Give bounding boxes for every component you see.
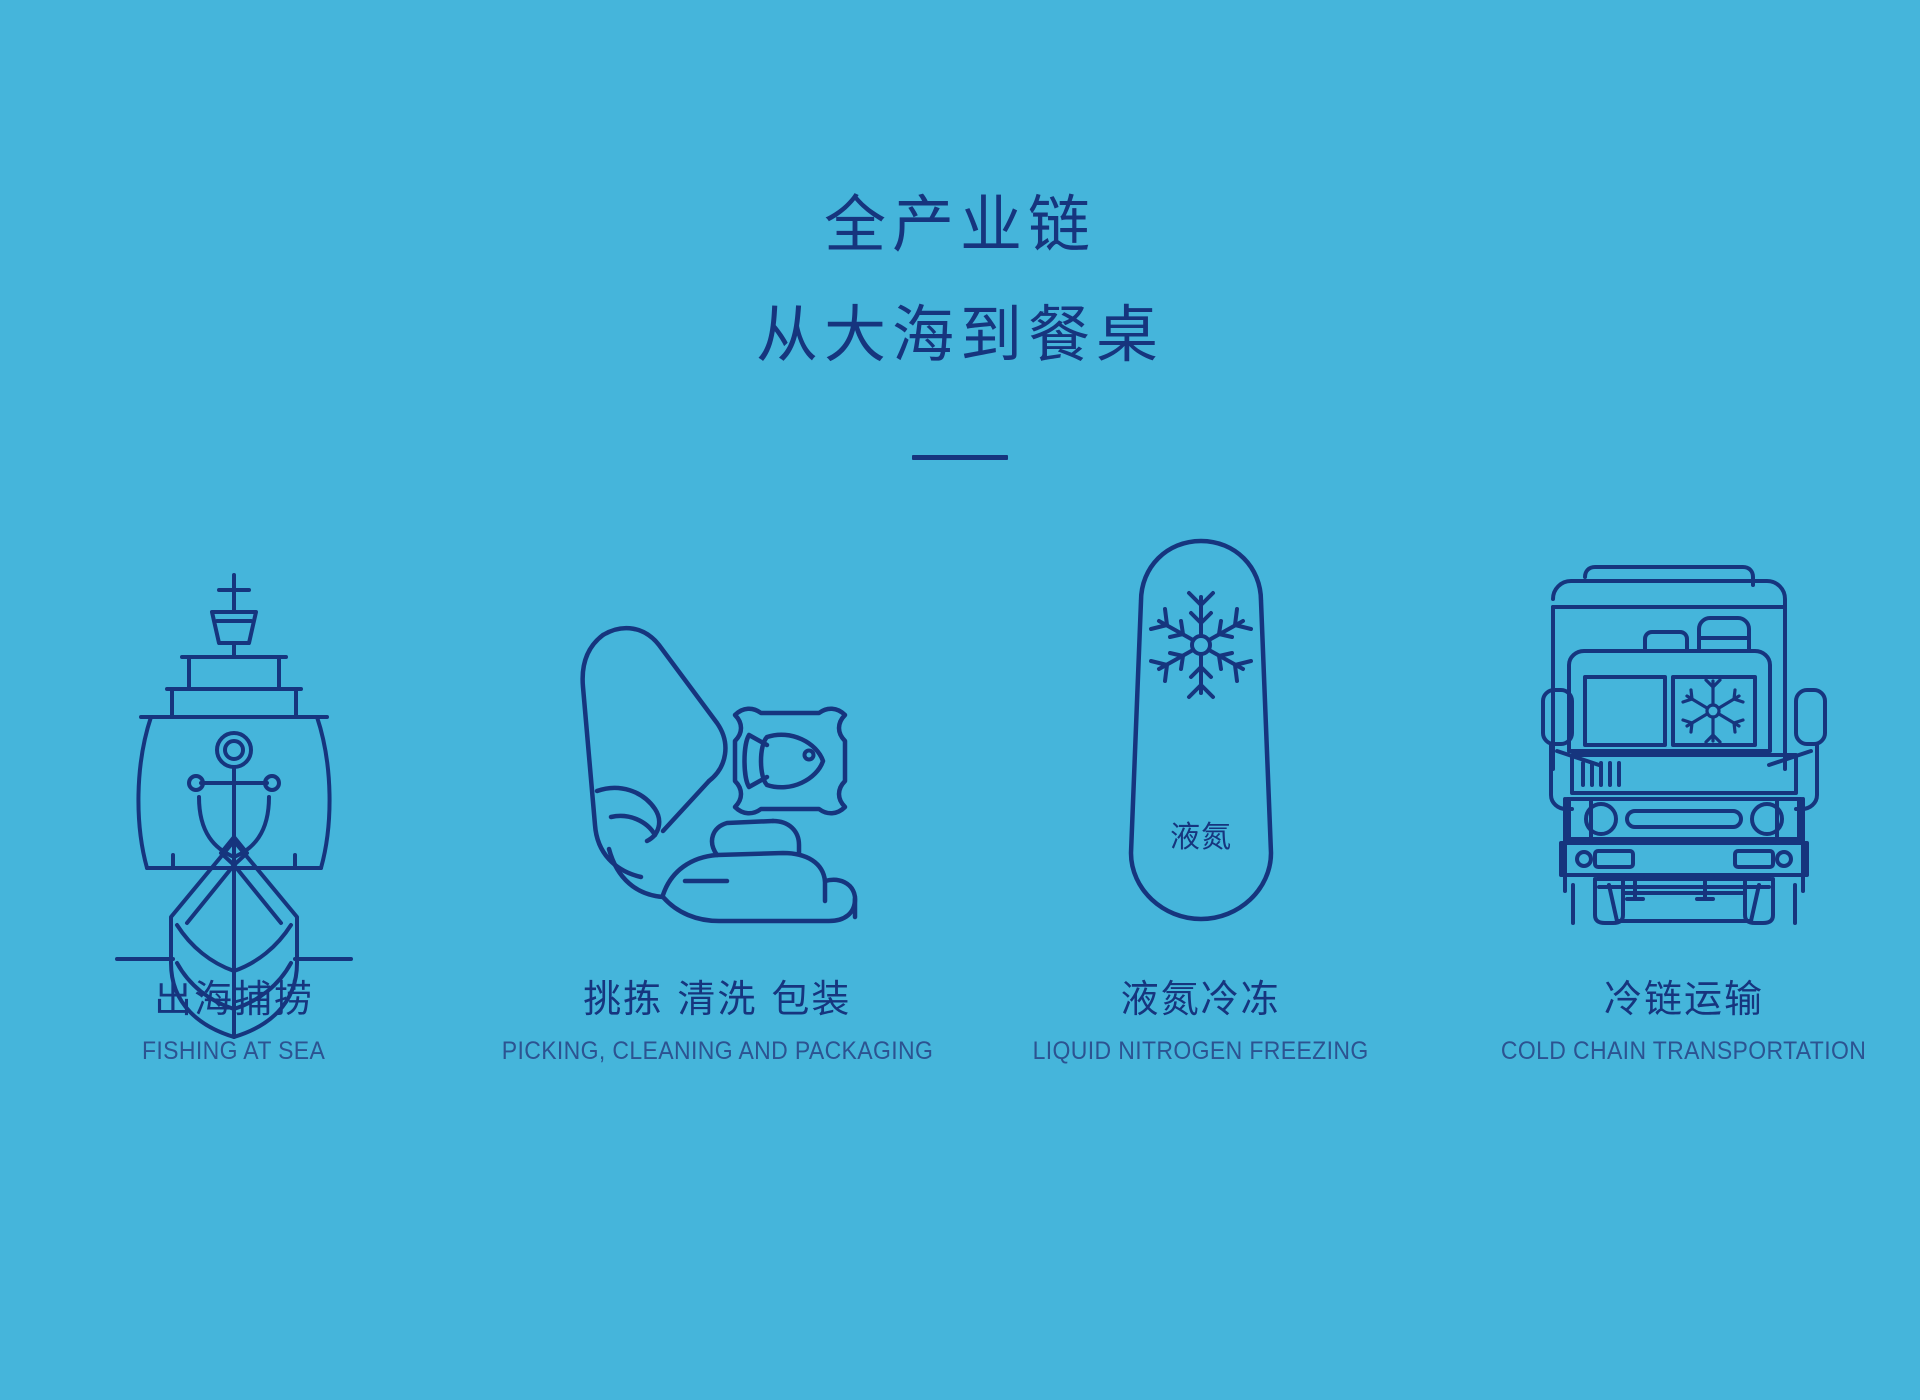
title-divider-wrap (0, 455, 1920, 460)
step-liquid-nitrogen-freezing[interactable]: 液氮 液氮冷冻 LIQUID NITROGEN FREEZING (961, 525, 1441, 1066)
fishing-boat-icon (109, 565, 359, 925)
refrigerated-truck-icon (1539, 555, 1829, 925)
step-cold-chain-transportation[interactable]: 冷链运输 COLD CHAIN TRANSPORTATION (1444, 525, 1920, 1066)
step-label-cn: 冷链运输 (1485, 977, 1882, 1023)
title-divider (912, 455, 1008, 460)
process-steps: 出海捕捞 FISHING AT SEA (0, 525, 1920, 1066)
step-labels: 冷链运输 COLD CHAIN TRANSPORTATION (1485, 977, 1882, 1066)
step-label-cn: 挑拣 清洗 包装 (483, 977, 952, 1023)
title-line-2: 从大海到餐桌 (0, 290, 1920, 380)
step-label-en: COLD CHAIN TRANSPORTATION (1501, 1037, 1866, 1066)
step-fishing-at-sea[interactable]: 出海捕捞 FISHING AT SEA (0, 525, 474, 1066)
hands-icon-box (567, 525, 867, 925)
infographic-stage: 全产业链 从大海到餐桌 (0, 0, 1920, 1400)
hands-with-packaged-fish-icon (567, 595, 867, 925)
fishing-boat-icon-box (109, 525, 359, 925)
snowflake-glyph (1683, 680, 1743, 742)
tank-label: 液氮 (1170, 820, 1232, 855)
step-label-en: LIQUID NITROGEN FREEZING (1033, 1037, 1369, 1066)
step-label-en: FISHING AT SEA (142, 1037, 325, 1066)
truck-icon-box (1539, 525, 1829, 925)
step-label-cn: 液氮冷冻 (1018, 977, 1383, 1023)
page-title: 全产业链 从大海到餐桌 (0, 180, 1920, 380)
liquid-nitrogen-icon-box: 液氮 (1121, 525, 1281, 925)
step-labels: 液氮冷冻 LIQUID NITROGEN FREEZING (1018, 977, 1383, 1066)
snowflake-glyph (1151, 593, 1251, 697)
step-label-en: PICKING, CLEANING AND PACKAGING (502, 1037, 933, 1066)
step-picking-cleaning-packaging[interactable]: 挑拣 清洗 包装 PICKING, CLEANING AND PACKAGING (477, 525, 957, 1066)
title-line-1: 全产业链 (0, 180, 1920, 270)
liquid-nitrogen-tank-icon: 液氮 (1121, 535, 1281, 925)
step-labels: 出海捕捞 FISHING AT SEA (134, 977, 333, 1066)
step-labels: 挑拣 清洗 包装 PICKING, CLEANING AND PACKAGING (483, 977, 952, 1066)
step-label-cn: 出海捕捞 (134, 977, 333, 1023)
